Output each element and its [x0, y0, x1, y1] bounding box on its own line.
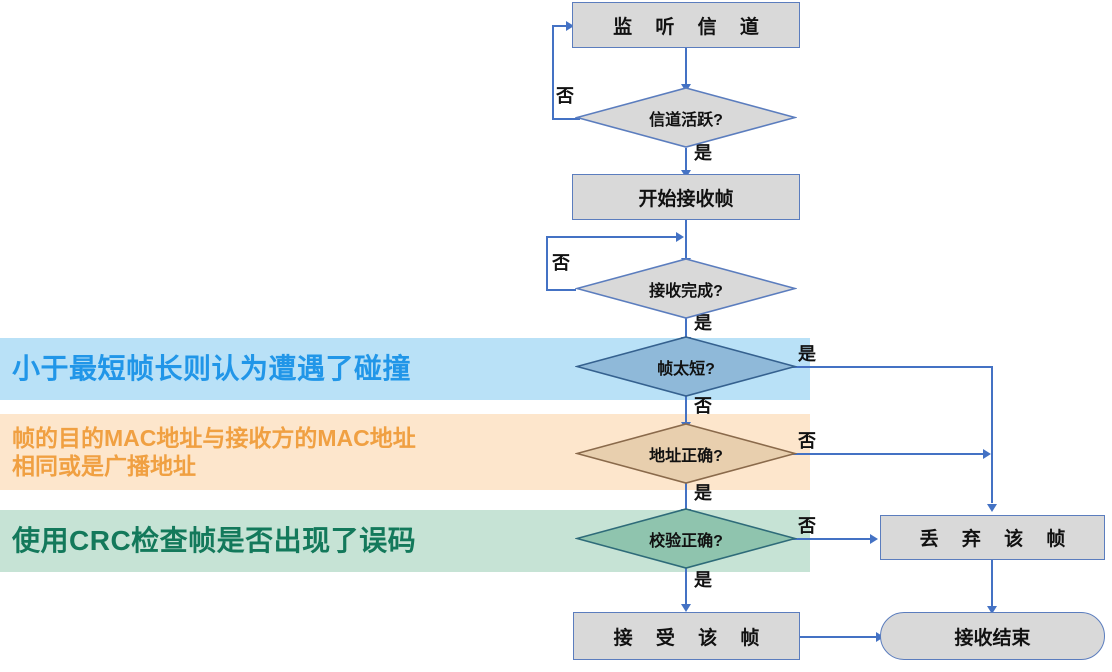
edge-label-done-no: 否 — [552, 249, 570, 275]
connector-accept-to-end — [800, 636, 878, 638]
node-checksum-correct-decision[interactable]: 校验正确? — [575, 508, 797, 569]
node-label-receive-complete: 接收完成? — [649, 277, 723, 301]
node-discard-frame[interactable]: 丢 弃 该 帧 — [880, 515, 1105, 560]
edge-label-tooshort-yes: 是 — [798, 340, 816, 366]
node-frame-too-short-decision[interactable]: 帧太短? — [575, 336, 797, 397]
node-receive-complete-decision[interactable]: 接收完成? — [575, 258, 797, 319]
node-label-receive-end: 接收结束 — [954, 623, 1030, 650]
edge-label-addr-no: 否 — [798, 427, 816, 453]
connector-discard-to-end — [991, 560, 993, 610]
node-label-checksum-correct: 校验正确? — [649, 527, 723, 551]
annotation-text-crc-check: 使用CRC检查帧是否出现了误码 — [12, 524, 416, 558]
node-label-channel-active: 信道活跃? — [649, 106, 723, 130]
arrowhead-tooshort-yes — [987, 504, 997, 512]
annotation-text-mac-address: 帧的目的MAC地址与接收方的MAC地址 相同或是广播地址 — [12, 424, 416, 480]
arrowhead-addr-no — [983, 449, 991, 459]
arrowhead-done-no — [676, 232, 684, 242]
arrowhead-crc-no — [870, 534, 878, 544]
node-label-start-receive-frame: 开始接收帧 — [638, 184, 733, 211]
node-receive-end[interactable]: 接收结束 — [880, 612, 1105, 660]
node-label-discard-frame: 丢 弃 该 帧 — [911, 524, 1075, 551]
flowchart-canvas: 小于最短帧长则认为遭遇了碰撞 帧的目的MAC地址与接收方的MAC地址 相同或是广… — [0, 0, 1112, 672]
connector-listen-to-active — [685, 48, 687, 87]
connector-crc-to-accept — [685, 566, 687, 608]
node-channel-active-decision[interactable]: 信道活跃? — [575, 87, 797, 148]
connector-tooshort-yes — [785, 366, 993, 368]
connector-tooshort-yes-drop — [991, 366, 993, 503]
node-label-listen-channel: 监 听 信 道 — [604, 12, 768, 39]
connector-crc-no — [785, 538, 872, 540]
annotation-text-short-frame: 小于最短帧长则认为遭遇了碰撞 — [12, 352, 411, 386]
node-address-correct-decision[interactable]: 地址正确? — [575, 423, 797, 484]
node-start-receive-frame[interactable]: 开始接收帧 — [572, 174, 800, 220]
edge-label-crc-yes: 是 — [694, 566, 712, 592]
connector-done-no-riser — [546, 236, 548, 290]
connector-done-no-bottom — [546, 289, 576, 291]
connector-start-to-done — [685, 220, 687, 262]
node-label-address-correct: 地址正确? — [649, 442, 723, 466]
node-listen-channel[interactable]: 监 听 信 道 — [572, 2, 800, 48]
node-label-frame-too-short: 帧太短? — [657, 355, 715, 379]
edge-label-crc-no: 否 — [798, 512, 816, 538]
connector-addr-no — [785, 453, 985, 455]
node-accept-frame[interactable]: 接 受 该 帧 — [573, 612, 800, 660]
arrowhead-crc-to-accept — [681, 604, 691, 612]
edge-label-active-no: 否 — [556, 82, 574, 108]
connector-active-no-riser — [552, 25, 554, 119]
node-label-accept-frame: 接 受 该 帧 — [605, 623, 769, 650]
connector-done-no-top — [546, 236, 678, 238]
